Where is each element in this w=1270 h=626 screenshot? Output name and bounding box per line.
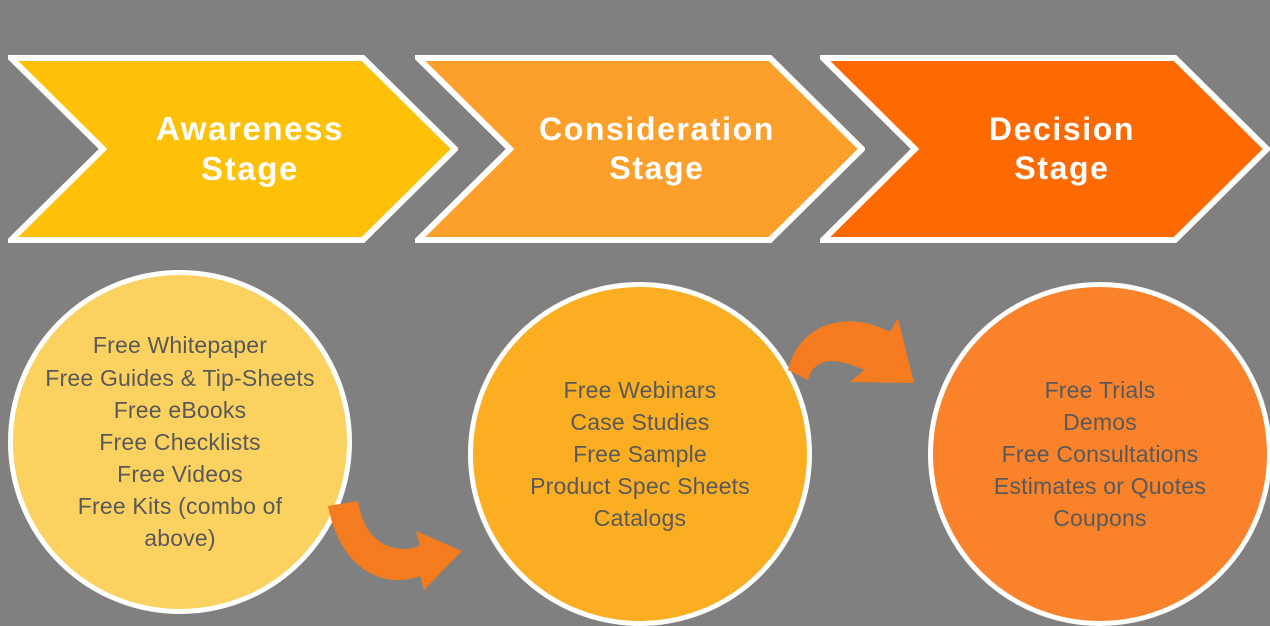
- stage-chevron-decision[interactable]: Decision Stage: [820, 55, 1270, 243]
- list-item: Free Kits (combo of above): [39, 490, 321, 554]
- list-item: Coupons: [994, 502, 1206, 534]
- stage-chevron-label-decision: Decision Stage: [955, 110, 1135, 188]
- list-item: Free Consultations: [994, 438, 1206, 470]
- list-item: Demos: [994, 406, 1206, 438]
- content-list-awareness: Free Whitepaper Free Guides & Tip-Sheets…: [13, 329, 347, 554]
- curved-arrow-right-icon: [786, 308, 968, 420]
- list-item: Free Webinars: [530, 374, 750, 406]
- stage-chevron-row: Awareness Stage Consideration Stage Deci…: [0, 0, 1270, 255]
- list-item: Free eBooks: [39, 394, 321, 426]
- stage-chevron-label-awareness: Awareness Stage: [122, 109, 344, 190]
- list-item: Product Spec Sheets: [530, 470, 750, 502]
- list-item: Free Guides & Tip-Sheets: [39, 362, 321, 394]
- list-item: Free Videos: [39, 458, 321, 490]
- list-item: Case Studies: [530, 406, 750, 438]
- content-circle-decision[interactable]: Free Trials Demos Free Consultations Est…: [928, 282, 1270, 626]
- list-item: Catalogs: [530, 502, 750, 534]
- content-circle-consideration[interactable]: Free Webinars Case Studies Free Sample P…: [468, 282, 812, 626]
- list-item: Estimates or Quotes: [994, 470, 1206, 502]
- diagram-canvas: Awareness Stage Consideration Stage Deci…: [0, 0, 1270, 626]
- stage-chevron-awareness[interactable]: Awareness Stage: [8, 55, 458, 243]
- content-circle-awareness[interactable]: Free Whitepaper Free Guides & Tip-Sheets…: [8, 270, 352, 614]
- content-list-decision: Free Trials Demos Free Consultations Est…: [968, 374, 1232, 535]
- stage-chevron-consideration[interactable]: Consideration Stage: [415, 55, 865, 243]
- content-list-consideration: Free Webinars Case Studies Free Sample P…: [504, 374, 776, 535]
- curved-arrow-right-icon: [320, 498, 500, 610]
- stage-chevron-label-consideration: Consideration Stage: [505, 110, 775, 188]
- list-item: Free Sample: [530, 438, 750, 470]
- list-item: Free Whitepaper: [39, 329, 321, 361]
- list-item: Free Trials: [994, 374, 1206, 406]
- list-item: Free Checklists: [39, 426, 321, 458]
